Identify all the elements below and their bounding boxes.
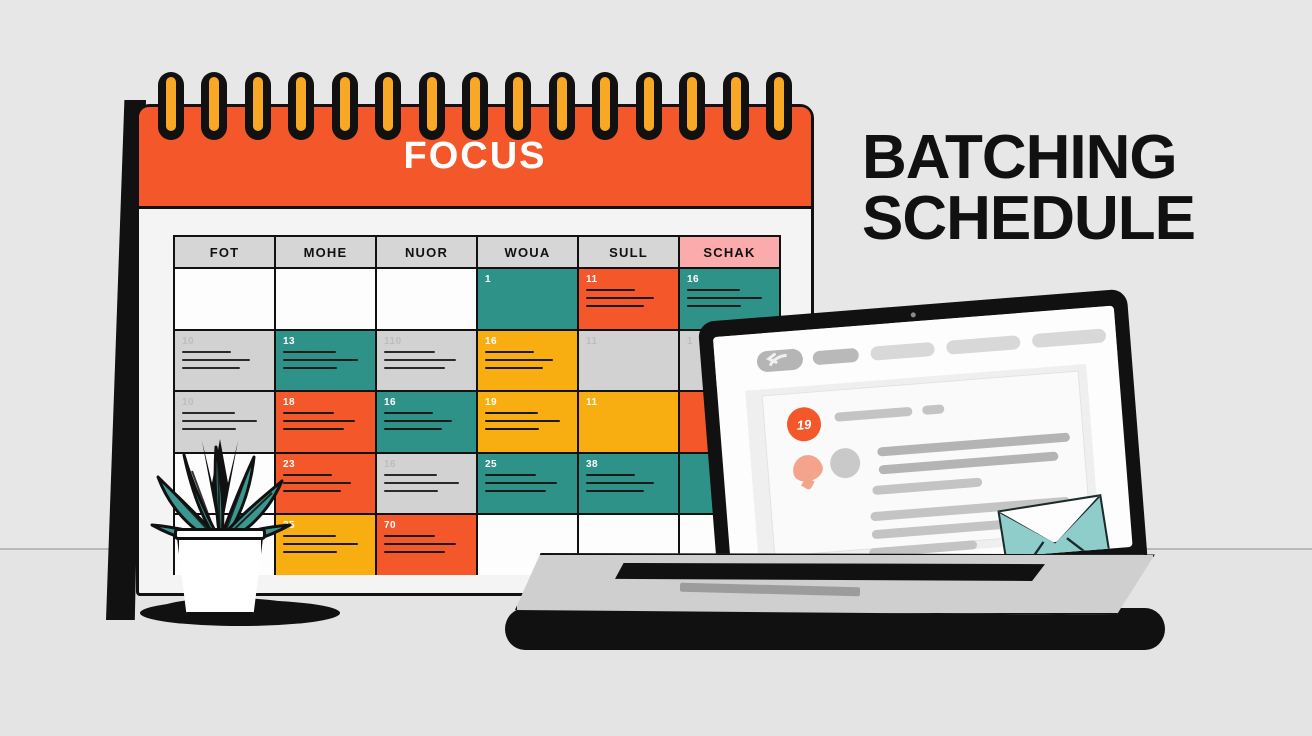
calendar-day-header-row: FOTMOHENUORWOUASULLSCHAK <box>175 237 779 269</box>
calendar-day-cell[interactable]: 13 <box>276 331 377 391</box>
skeleton-line <box>922 404 945 415</box>
event-line <box>384 351 435 353</box>
day-number: 11 <box>586 274 671 285</box>
day-header-mohe[interactable]: MOHE <box>276 237 377 267</box>
avatar <box>829 447 861 479</box>
calendar-day-cell[interactable]: 110 <box>377 331 478 391</box>
event-line <box>283 412 334 414</box>
page-title: BATCHING SCHEDULE <box>862 128 1282 250</box>
spiral-ring <box>592 72 618 140</box>
spiral-ring <box>723 72 749 140</box>
ring-wire <box>686 76 698 132</box>
day-number: 110 <box>384 336 469 347</box>
toolbar-pill[interactable] <box>812 348 859 366</box>
back-arrow-glyph <box>756 348 804 373</box>
event-line <box>586 289 635 291</box>
event-line <box>283 351 336 353</box>
spiral-binding <box>136 72 814 140</box>
toolbar-pill[interactable] <box>946 335 1021 355</box>
event-line <box>384 428 442 430</box>
day-number: 16 <box>384 459 469 470</box>
ring-wire <box>252 76 264 132</box>
day-header-woua[interactable]: WOUA <box>478 237 579 267</box>
day-header-nuor[interactable]: NUOR <box>377 237 478 267</box>
event-line <box>687 297 762 299</box>
event-line <box>384 551 445 553</box>
laptop-base <box>515 553 1155 615</box>
ring-wire <box>512 76 524 132</box>
event-line <box>384 359 456 361</box>
day-header-sull[interactable]: SULL <box>579 237 680 267</box>
spiral-ring <box>288 72 314 140</box>
event-line <box>283 367 337 369</box>
spiral-ring <box>636 72 662 140</box>
calendar-day-cell[interactable] <box>377 269 478 329</box>
spiral-ring <box>201 72 227 140</box>
ring-wire <box>165 76 177 132</box>
spiral-ring <box>766 72 792 140</box>
event-line <box>384 482 459 484</box>
potted-plant <box>140 425 300 625</box>
illustration-canvas: FOCUS FOTMOHENUORWOUASULLSCHAK 111161013… <box>0 0 1312 736</box>
laptop-screen: 19 <box>713 306 1133 579</box>
event-line <box>283 420 355 422</box>
event-line <box>283 359 358 361</box>
event-line <box>384 543 456 545</box>
event-line <box>586 297 654 299</box>
email-list-card: 19 <box>762 371 1092 557</box>
ring-wire <box>469 76 481 132</box>
spiral-ring <box>332 72 358 140</box>
spiral-ring <box>245 72 271 140</box>
calendar-day-cell[interactable]: 10 <box>175 331 276 391</box>
day-number: 18 <box>283 397 368 408</box>
event-line <box>384 367 445 369</box>
skeleton-line <box>872 477 982 495</box>
headline-line-1: BATCHING <box>862 128 1282 189</box>
day-number: 10 <box>182 336 267 347</box>
spiral-ring <box>419 72 445 140</box>
calendar-day-cell[interactable] <box>175 269 276 329</box>
spiral-ring <box>679 72 705 140</box>
plant-pot-rim <box>174 528 266 540</box>
skeleton-line <box>878 451 1058 474</box>
event-line <box>182 367 240 369</box>
ring-wire <box>295 76 307 132</box>
ring-wire <box>556 76 568 132</box>
day-number: 13 <box>283 336 368 347</box>
event-line <box>384 490 438 492</box>
calendar-title: FOCUS <box>404 135 547 178</box>
spiral-ring <box>462 72 488 140</box>
heart-icon <box>789 451 825 484</box>
back-arrow-icon[interactable] <box>756 348 804 373</box>
laptop-keyboard <box>615 563 1045 581</box>
email-page: 19 <box>745 364 1100 566</box>
day-number: 1 <box>485 274 570 285</box>
event-line <box>384 420 452 422</box>
calendar-day-cell[interactable] <box>276 269 377 329</box>
ring-wire <box>339 76 351 132</box>
spiral-ring <box>375 72 401 140</box>
event-line <box>384 412 433 414</box>
calendar-day-cell[interactable]: 16 <box>377 454 478 514</box>
event-line <box>182 412 235 414</box>
toolbar-dot[interactable] <box>1125 326 1132 341</box>
ring-wire <box>773 76 785 132</box>
day-number: 70 <box>384 520 469 531</box>
calendar-day-cell[interactable]: 70 <box>377 515 478 575</box>
plant-pot <box>176 530 264 615</box>
ring-wire <box>426 76 438 132</box>
toolbar-pill[interactable] <box>870 342 935 361</box>
headline-line-2: SCHEDULE <box>862 189 1282 250</box>
ring-wire <box>730 76 742 132</box>
webcam-icon <box>910 312 915 317</box>
day-number: 16 <box>384 397 469 408</box>
event-line <box>687 289 740 291</box>
event-line <box>384 535 435 537</box>
event-line <box>182 420 257 422</box>
ring-wire <box>208 76 220 132</box>
toolbar-pill[interactable] <box>1032 328 1107 348</box>
calendar-day-cell[interactable]: 16 <box>377 392 478 452</box>
laptop: 19 <box>505 305 1165 625</box>
day-header-fot[interactable]: FOT <box>175 237 276 267</box>
event-line <box>182 359 250 361</box>
ring-wire <box>599 76 611 132</box>
spiral-ring <box>505 72 531 140</box>
notification-badge[interactable]: 19 <box>786 406 823 443</box>
event-line <box>384 474 437 476</box>
day-number: 10 <box>182 397 267 408</box>
spiral-ring <box>549 72 575 140</box>
day-number: 16 <box>687 274 772 285</box>
event-line <box>182 351 231 353</box>
ring-wire <box>382 76 394 132</box>
ring-wire <box>643 76 655 132</box>
spiral-ring <box>158 72 184 140</box>
day-header-schak[interactable]: SCHAK <box>680 237 779 267</box>
skeleton-line <box>834 407 912 422</box>
